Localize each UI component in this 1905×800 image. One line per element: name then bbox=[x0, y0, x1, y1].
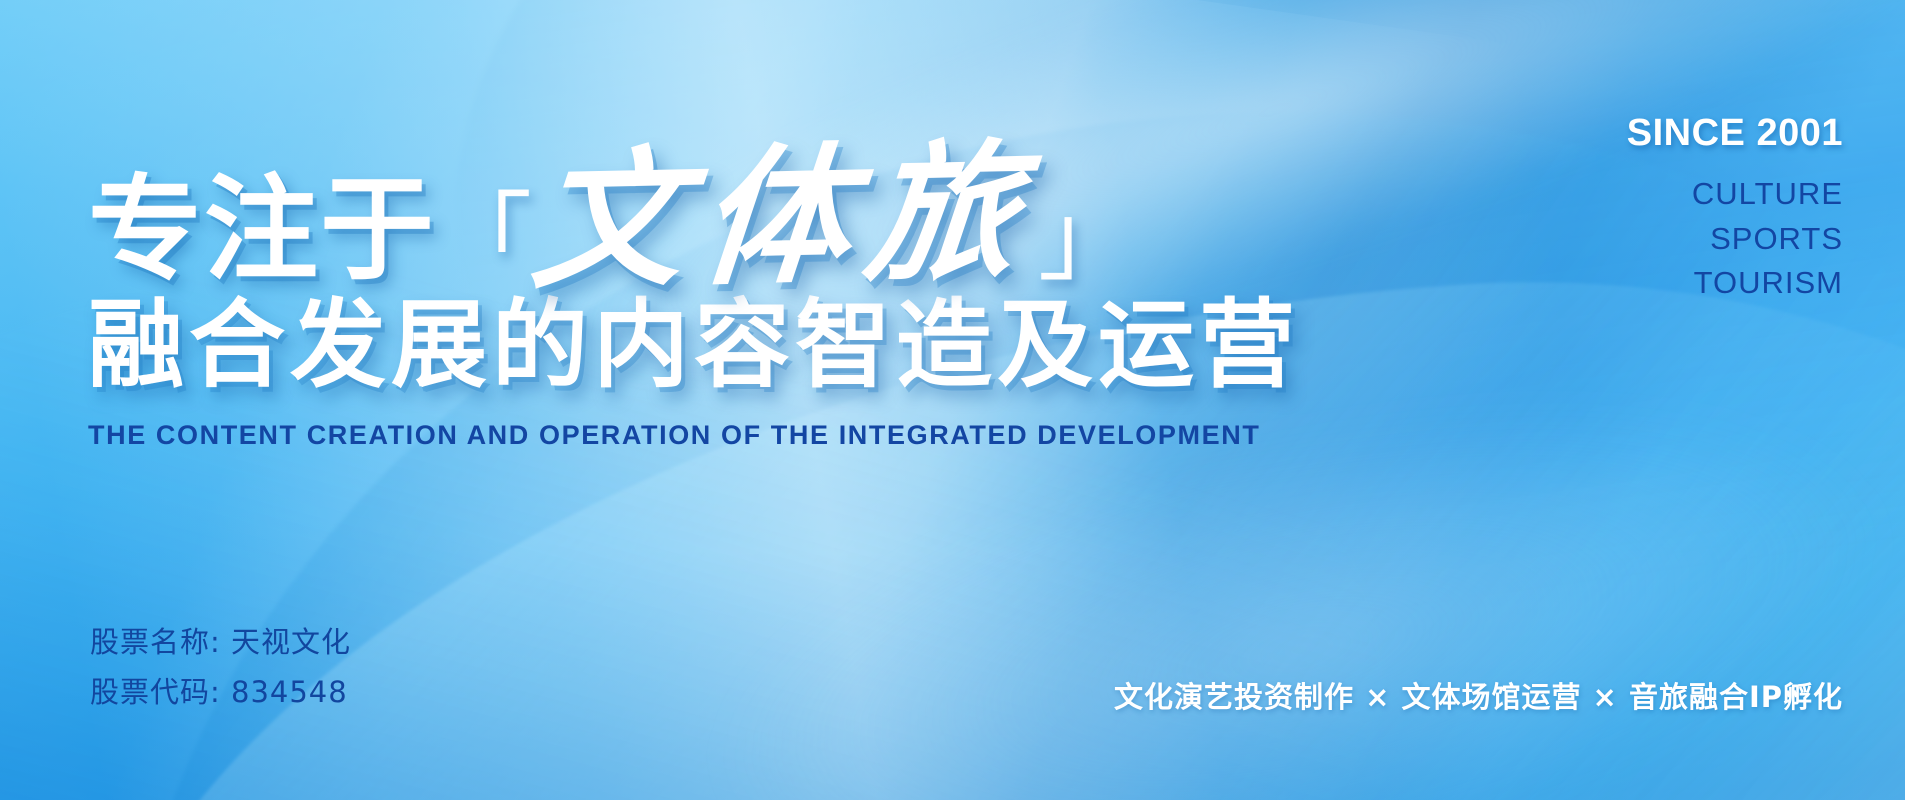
business-scope-tagline: 文化演艺投资制作 × 文体场馆运营 × 音旅融合IP孵化 bbox=[1114, 674, 1843, 716]
since-year-label: SINCE 2001 bbox=[1523, 112, 1843, 155]
banner-content: 专注于 「 文体旅 」 融合发展的内容智造及运营 THE CONTENT CRE… bbox=[0, 0, 1905, 800]
stock-code-line: 股票代码: 834548 bbox=[90, 667, 351, 718]
headline-subtitle-english: THE CONTENT CREATION AND OPERATION OF TH… bbox=[88, 420, 1268, 451]
headline-block: 专注于 「 文体旅 」 融合发展的内容智造及运营 THE CONTENT CRE… bbox=[88, 118, 1268, 451]
stock-name-line: 股票名称: 天视文化 bbox=[90, 617, 351, 668]
keyword-culture: CULTURE bbox=[1523, 177, 1843, 212]
keyword-sports: SPORTS bbox=[1523, 222, 1843, 257]
headline-line-1: 专注于 「 文体旅 」 bbox=[88, 118, 1268, 286]
corner-bracket-open-icon: 「 bbox=[436, 190, 532, 286]
banner-canvas: 专注于 「 文体旅 」 融合发展的内容智造及运营 THE CONTENT CRE… bbox=[0, 0, 1905, 800]
keyword-tourism: TOURISM bbox=[1523, 266, 1843, 301]
headline-line-2: 融合发展的内容智造及运营 bbox=[88, 294, 1268, 398]
corner-bracket-close-icon: 」 bbox=[1038, 190, 1134, 286]
headline-brush-keyword: 文体旅 bbox=[528, 143, 1039, 291]
stock-info-block: 股票名称: 天视文化 股票代码: 834548 bbox=[90, 617, 351, 719]
headline-prefix: 专注于 bbox=[88, 172, 436, 286]
right-keyword-column: SINCE 2001 CULTURE SPORTS TOURISM bbox=[1523, 112, 1843, 311]
